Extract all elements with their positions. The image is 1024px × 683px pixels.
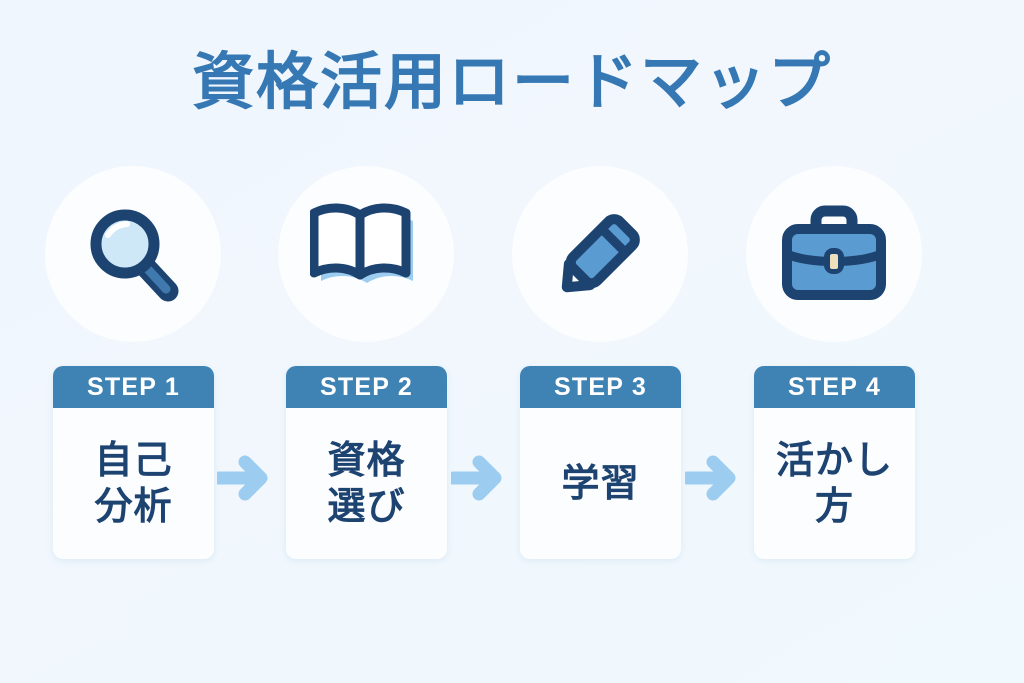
icon-badge-2	[278, 166, 454, 342]
arrow-step3-to-step4	[685, 455, 737, 501]
icon-badge-1	[45, 166, 221, 342]
briefcase-icon	[778, 202, 890, 306]
step-column-1: STEP 1 自己 分析	[43, 166, 223, 342]
pencil-icon	[545, 199, 655, 309]
step-badge-3: STEP 3	[520, 366, 681, 408]
step-column-2: STEP 2 資格 選び	[276, 166, 456, 342]
icon-badge-4	[746, 166, 922, 342]
icon-badge-3	[512, 166, 688, 342]
open-book-icon	[310, 199, 422, 309]
step-title-3: 学習	[520, 408, 681, 559]
arrow-step1-to-step2	[217, 455, 269, 501]
step-badge-4: STEP 4	[754, 366, 915, 408]
step-column-3: STEP 3 学習	[510, 166, 690, 342]
step-badge-2: STEP 2	[286, 366, 447, 408]
magnifier-icon	[78, 199, 188, 309]
page-title: 資格活用ロードマップ	[0, 46, 1024, 118]
step-card-4[interactable]: STEP 4 活かし 方	[754, 366, 915, 559]
step-badge-1: STEP 1	[53, 366, 214, 408]
step-column-4: STEP 4 活かし 方	[744, 166, 924, 342]
step-card-2[interactable]: STEP 2 資格 選び	[286, 366, 447, 559]
arrow-step2-to-step3	[451, 455, 503, 501]
step-title-4: 活かし 方	[754, 408, 915, 559]
step-card-1[interactable]: STEP 1 自己 分析	[53, 366, 214, 559]
infographic-canvas: 資格活用ロードマップ STEP 1 自己 分析	[0, 0, 1024, 683]
step-title-2: 資格 選び	[286, 408, 447, 559]
step-title-1: 自己 分析	[53, 408, 214, 559]
step-card-3[interactable]: STEP 3 学習	[520, 366, 681, 559]
